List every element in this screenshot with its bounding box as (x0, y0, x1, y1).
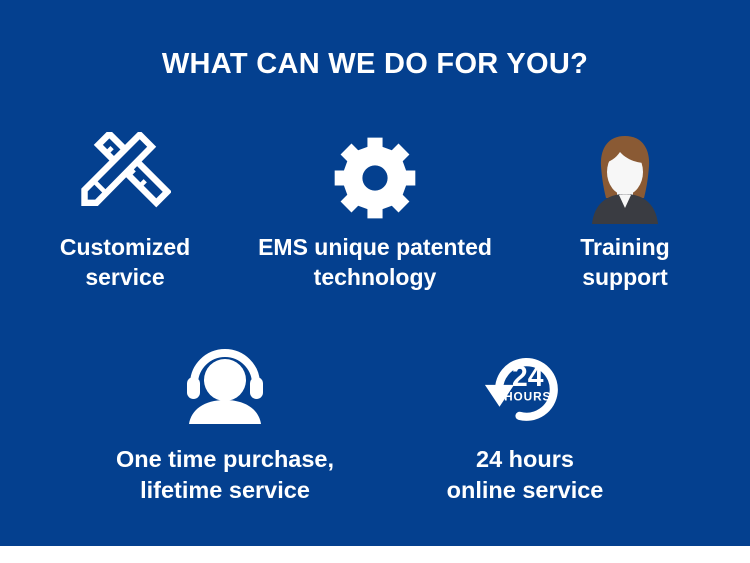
feature-patented-technology: EMS unique patented technology (250, 132, 500, 293)
headset-support-icon (184, 338, 266, 430)
feature-label: EMS unique patented technology (254, 233, 496, 293)
feature-customized-service: Customized service (0, 132, 250, 293)
24-hours-clock-arrow-icon: 24 HOURS (479, 338, 571, 430)
gear-icon (333, 132, 417, 224)
feature-label: One time purchase, lifetime service (112, 444, 338, 505)
bottom-white-strip (0, 546, 750, 563)
icon-text-hours: HOURS (504, 389, 551, 403)
feature-training-support: Training support (500, 132, 750, 293)
feature-label: Customized service (56, 233, 194, 293)
feature-one-time-purchase: One time purchase, lifetime service (75, 338, 375, 505)
promo-banner: WHAT CAN WE DO FOR YOU? Customi (0, 0, 750, 546)
feature-label: Training support (576, 233, 673, 293)
page-title: WHAT CAN WE DO FOR YOU? (0, 48, 750, 81)
ruler-pencil-icon (79, 132, 171, 224)
feature-label: 24 hours online service (443, 444, 608, 505)
person-avatar-icon (586, 132, 664, 224)
feature-24-hours-service: 24 HOURS 24 hours online service (375, 338, 675, 505)
icon-text-24: 24 (512, 360, 544, 392)
features-row-bottom: One time purchase, lifetime service 24 H… (0, 338, 750, 505)
features-row-top: Customized service EMS unique patented t… (0, 132, 750, 293)
